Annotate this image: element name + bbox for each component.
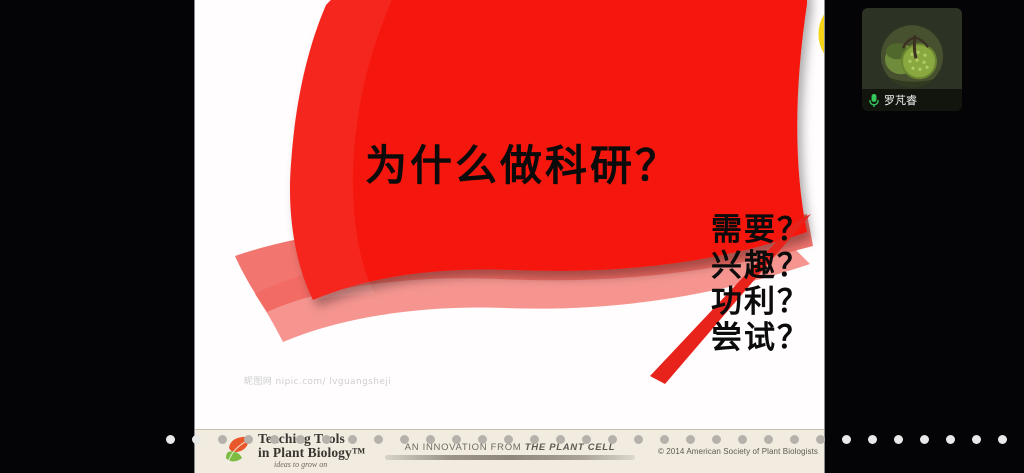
- slide-bullet-list: 需要？ 兴趣？ 功利？ 尝试？: [711, 212, 810, 356]
- footer-dot: [894, 435, 903, 444]
- bullet-item: 兴趣？: [711, 248, 810, 284]
- participant-name-plate: 罗芃睿: [862, 89, 962, 111]
- logo-line-1: Teaching Tools: [258, 432, 365, 446]
- slide-footer: Teaching Tools in Plant Biology™ ideas t…: [195, 429, 825, 473]
- copyright-notice: © 2014 American Society of Plant Biologi…: [658, 447, 818, 456]
- bullet-item: 需要？: [711, 212, 810, 248]
- logo-line-2: in Plant Biology™: [258, 446, 365, 460]
- bullet-item: 尝试？: [711, 320, 810, 356]
- meeting-screen: 为什么做科研？ 需要？ 兴趣？ 功利？ 尝试？ 昵图网 nipic.com/ l…: [0, 0, 1024, 473]
- footer-dot: [972, 435, 981, 444]
- teaching-tools-logo: Teaching Tools in Plant Biology™ ideas t…: [225, 432, 365, 469]
- innovation-divider-bar: [385, 455, 635, 460]
- five-pointed-star-in-circle-icon: [813, 0, 825, 76]
- participant-name: 罗芃睿: [884, 92, 917, 108]
- participant-video-tile[interactable]: 罗芃睿: [862, 8, 962, 111]
- microphone-icon[interactable]: [868, 93, 880, 108]
- innovation-text: AN INNOVATION FROM THE PLANT CELL: [385, 442, 635, 453]
- logo-tagline: ideas to grow on: [258, 460, 365, 469]
- presentation-slide: 为什么做科研？ 需要？ 兴趣？ 功利？ 尝试？ 昵图网 nipic.com/ l…: [194, 0, 825, 473]
- footer-dot: [920, 435, 929, 444]
- innovation-prefix: AN INNOVATION FROM: [405, 442, 525, 453]
- leaf-logo-icon: [225, 435, 253, 465]
- bullet-item: 功利？: [711, 284, 810, 320]
- innovation-banner: AN INNOVATION FROM THE PLANT CELL: [385, 442, 635, 460]
- teaching-tools-wordmark: Teaching Tools in Plant Biology™ ideas t…: [258, 432, 365, 469]
- star-emblem: [813, 0, 825, 76]
- stock-image-watermark: 昵图网 nipic.com/ lvguangsheji: [244, 374, 391, 387]
- journal-name: THE PLANT CELL: [525, 442, 616, 453]
- durian-fruit-photo: [881, 25, 943, 87]
- footer-dot: [868, 435, 877, 444]
- footer-dot: [998, 435, 1007, 444]
- footer-dot: [166, 435, 175, 444]
- slide-title: 为什么做科研？: [365, 145, 680, 187]
- footer-dot: [946, 435, 955, 444]
- footer-dot: [842, 435, 851, 444]
- avatar: [881, 25, 943, 87]
